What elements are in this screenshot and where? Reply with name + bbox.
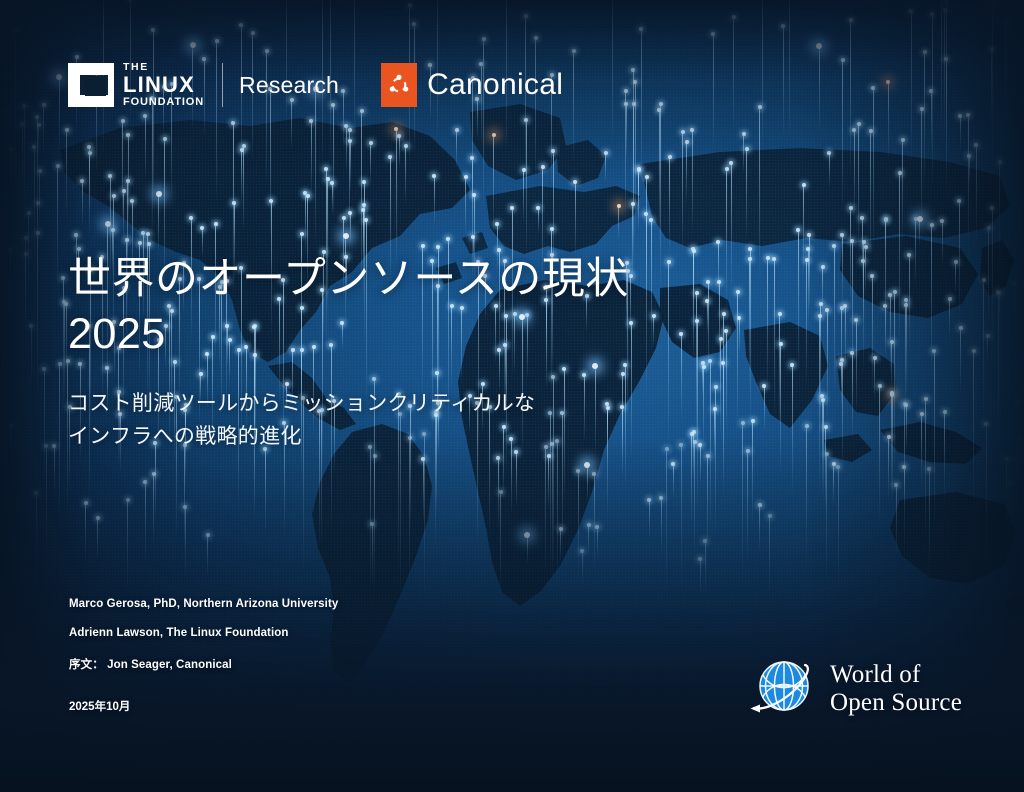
logo-bar: THE LINUX FOUNDATION Research Canonical (68, 57, 563, 113)
canonical-wordmark: Canonical (427, 68, 563, 102)
author-line: 序文： Jon Seager, Canonical (69, 656, 338, 672)
page-title: 世界のオープンソースの現状 2025 (68, 252, 828, 362)
canonical-mark (381, 63, 417, 107)
report-cover: THE LINUX FOUNDATION Research Canonical (0, 0, 1024, 792)
canonical-logo: Canonical (381, 63, 563, 107)
linux-foundation-wordmark: THE LINUX FOUNDATION (123, 62, 204, 108)
logo-divider (222, 63, 223, 107)
title-block: 世界のオープンソースの現状 2025 コスト削減ツールからミッションクリティカル… (68, 252, 828, 453)
publication-date: 2025年10月 (69, 698, 338, 714)
world-of-open-source-logo: World of Open Source (746, 653, 962, 725)
lf-foundation-text: FOUNDATION (123, 97, 204, 108)
ubuntu-circle-of-friends-icon (387, 73, 411, 97)
globe-orbit-icon (746, 653, 818, 725)
world-of-open-source-wordmark: World of Open Source (830, 661, 962, 718)
author-line: Marco Gerosa, PhD, Northern Arizona Univ… (69, 598, 338, 610)
linux-foundation-logo: THE LINUX FOUNDATION (68, 62, 204, 108)
linux-foundation-bracket-icon (68, 63, 114, 107)
author-line: Adrienn Lawson, The Linux Foundation (69, 627, 338, 639)
lf-linux-text: LINUX (123, 74, 204, 96)
research-label: Research (239, 72, 339, 99)
authors-block: Marco Gerosa, PhD, Northern Arizona Univ… (69, 598, 338, 714)
page-subtitle: コスト削減ツールからミッションクリティカルな インフラへの戦略的進化 (68, 388, 828, 453)
